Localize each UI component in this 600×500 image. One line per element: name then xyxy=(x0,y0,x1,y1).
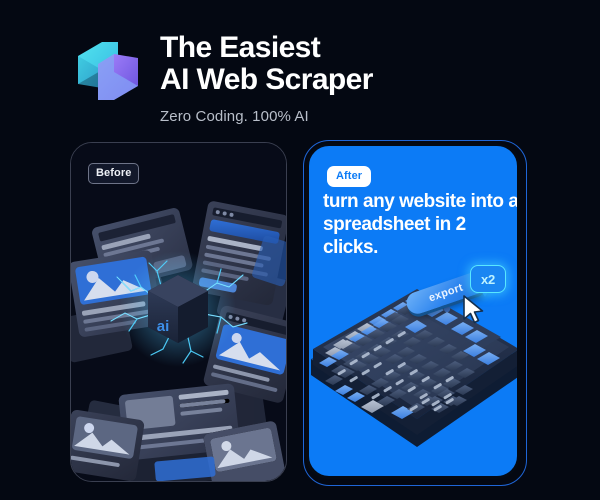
header-text-block: The Easiest AI Web Scraper Zero Coding. … xyxy=(160,28,373,126)
before-illustration: ai xyxy=(71,143,286,481)
after-headline: turn any website into a spreadsheet in 2… xyxy=(323,190,519,259)
poster-canvas: The Easiest AI Web Scraper Zero Coding. … xyxy=(0,0,600,500)
page-subtitle: Zero Coding. 100% AI xyxy=(160,108,373,126)
header: The Easiest AI Web Scraper Zero Coding. … xyxy=(72,28,373,126)
page-title-line-1: The Easiest xyxy=(160,32,373,64)
brand-logo-icon xyxy=(72,34,144,108)
before-panel: ai Before xyxy=(70,142,287,482)
before-badge: Before xyxy=(88,163,139,184)
x2-badge-label: x2 xyxy=(471,266,505,292)
page-title-line-2: AI Web Scraper xyxy=(160,64,373,96)
after-badge: After xyxy=(327,166,371,187)
ai-cube-label: ai xyxy=(157,318,170,335)
x2-badge: x2 xyxy=(470,265,506,293)
after-panel: After turn any website into a spreadshee… xyxy=(306,143,520,479)
mouse-pointer-icon xyxy=(461,294,487,331)
